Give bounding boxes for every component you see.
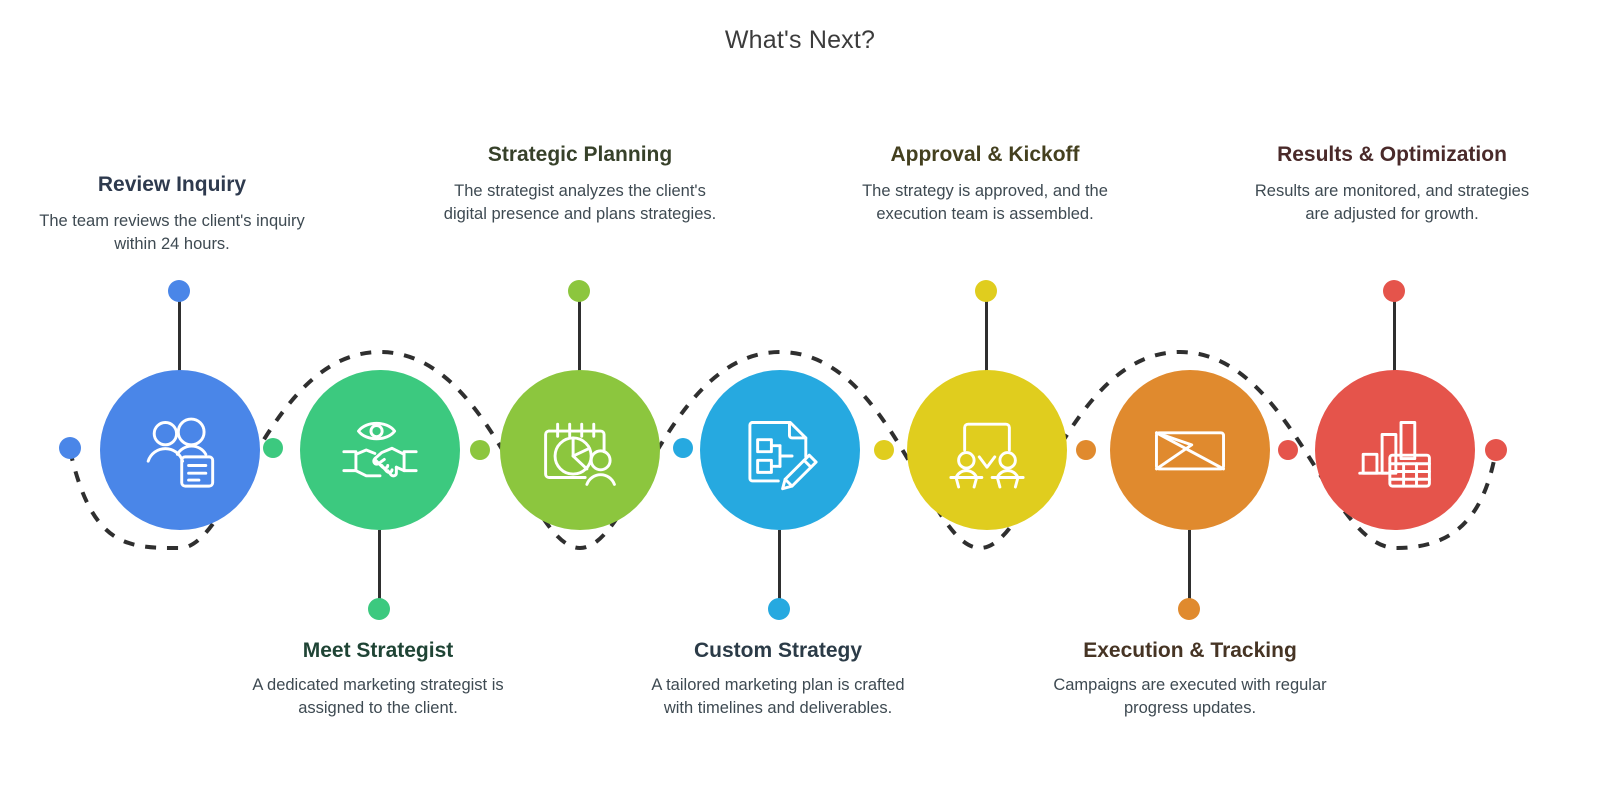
connector-dot-5 bbox=[1076, 440, 1096, 460]
document-flowchart-pencil-icon bbox=[737, 407, 823, 493]
step-circle-5[interactable] bbox=[907, 370, 1067, 530]
step-desc-5: The strategy is approved, and the execut… bbox=[845, 180, 1125, 225]
step-title-2: Meet Strategist bbox=[238, 638, 518, 664]
infographic-canvas: What's Next? Review Inquiry The team rev… bbox=[0, 0, 1600, 800]
envelope-icon bbox=[1147, 407, 1233, 493]
step-title-4: Custom Strategy bbox=[638, 638, 918, 664]
step-circle-1[interactable] bbox=[100, 370, 260, 530]
step-text-3: Strategic Planning The strategist analyz… bbox=[440, 142, 720, 225]
stem-cap-step-1 bbox=[168, 280, 190, 302]
step-text-2: Meet Strategist A dedicated marketing st… bbox=[238, 638, 518, 719]
step-title-6: Execution & Tracking bbox=[1050, 638, 1330, 664]
path-start-dot bbox=[59, 437, 81, 459]
stem-cap-step-6 bbox=[1178, 598, 1200, 620]
step-circle-4[interactable] bbox=[700, 370, 860, 530]
step-text-6: Execution & Tracking Campaigns are execu… bbox=[1050, 638, 1330, 719]
step-text-5: Approval & Kickoff The strategy is appro… bbox=[845, 142, 1125, 225]
stem-cap-step-3 bbox=[568, 280, 590, 302]
barchart-table-icon bbox=[1352, 407, 1438, 493]
stem-cap-step-2 bbox=[368, 598, 390, 620]
handshake-eye-icon bbox=[337, 407, 423, 493]
step-title-7: Results & Optimization bbox=[1252, 142, 1532, 168]
step-circle-3[interactable] bbox=[500, 370, 660, 530]
flipchart-piechart-person-icon bbox=[537, 407, 623, 493]
step-text-7: Results & Optimization Results are monit… bbox=[1252, 142, 1532, 225]
step-text-4: Custom Strategy A tailored marketing pla… bbox=[638, 638, 918, 719]
step-desc-2: A dedicated marketing strategist is assi… bbox=[238, 674, 518, 719]
connector-dot-1 bbox=[263, 438, 283, 458]
people-document-icon bbox=[137, 407, 223, 493]
stem-cap-step-7 bbox=[1383, 280, 1405, 302]
step-circle-6[interactable] bbox=[1110, 370, 1270, 530]
step-desc-3: The strategist analyzes the client's dig… bbox=[440, 180, 720, 225]
step-circle-2[interactable] bbox=[300, 370, 460, 530]
path-end-dot bbox=[1485, 439, 1507, 461]
connector-dot-2 bbox=[470, 440, 490, 460]
presentation-team-icon bbox=[944, 407, 1030, 493]
step-desc-1: The team reviews the client's inquiry wi… bbox=[32, 210, 312, 255]
connector-dot-3 bbox=[673, 438, 693, 458]
step-circle-7[interactable] bbox=[1315, 370, 1475, 530]
step-title-1: Review Inquiry bbox=[32, 172, 312, 198]
stem-cap-step-4 bbox=[768, 598, 790, 620]
step-title-3: Strategic Planning bbox=[440, 142, 720, 168]
step-desc-6: Campaigns are executed with regular prog… bbox=[1050, 674, 1330, 719]
step-title-5: Approval & Kickoff bbox=[845, 142, 1125, 168]
connector-dot-4 bbox=[874, 440, 894, 460]
stem-cap-step-5 bbox=[975, 280, 997, 302]
step-desc-7: Results are monitored, and strategies ar… bbox=[1252, 180, 1532, 225]
step-text-1: Review Inquiry The team reviews the clie… bbox=[32, 172, 312, 255]
step-desc-4: A tailored marketing plan is crafted wit… bbox=[638, 674, 918, 719]
connector-dot-6 bbox=[1278, 440, 1298, 460]
page-title: What's Next? bbox=[0, 26, 1600, 55]
